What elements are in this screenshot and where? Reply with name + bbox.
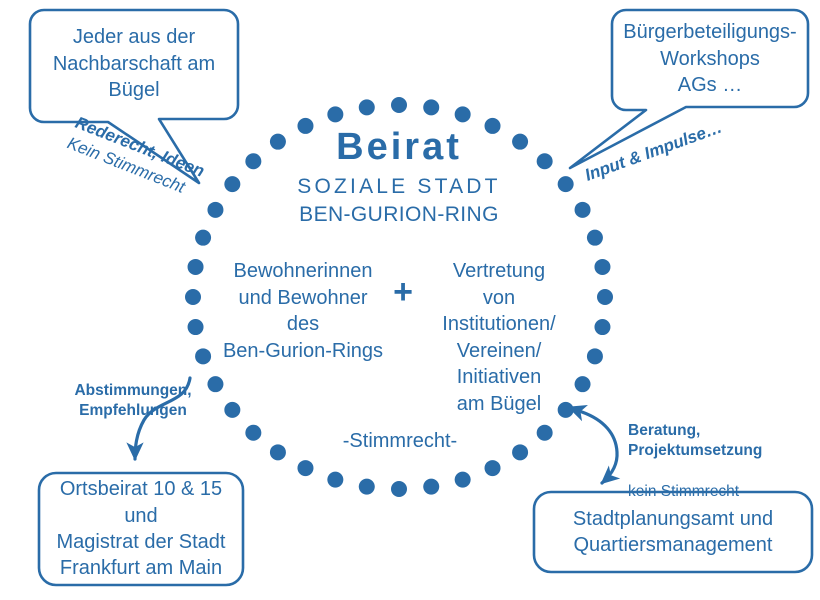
caption-abstimmungen-bold: Abstimmungen, Empfehlungen — [48, 381, 218, 422]
ring-dot — [270, 444, 286, 460]
ring-dot — [327, 106, 343, 122]
caption-rederecht: Rederecht, Ideen Kein Stimmrecht — [64, 112, 207, 203]
ring-dot — [359, 99, 375, 115]
ring-dot — [587, 348, 603, 364]
ring-dot — [188, 259, 204, 275]
ring-dot — [207, 202, 223, 218]
ring-dot — [188, 319, 204, 335]
caption-beratung-normal: kein Stimmrecht — [628, 482, 818, 503]
ring-dot — [195, 230, 211, 246]
ring-dot — [245, 425, 261, 441]
caption-beratung-bold: Beratung, Projektumsetzung — [628, 421, 818, 462]
ring-dot — [423, 479, 439, 495]
ring-column-left: Bewohnerinnen und Bewohner des Ben-Gurio… — [210, 258, 396, 364]
ring-dot — [594, 319, 610, 335]
ring-subtitle: SOZIALE STADT — [249, 171, 549, 203]
ring-dot — [597, 289, 613, 305]
ring-dot — [327, 472, 343, 488]
caption-input: Input & Impulse… — [582, 117, 725, 187]
diagram-canvas: Jeder aus der Nachbarschaft am Bügel Bür… — [0, 0, 820, 600]
bubble-nachbarschaft-label: Jeder aus der Nachbarschaft am Bügel — [36, 14, 232, 114]
ring-dot — [359, 479, 375, 495]
ring-dot — [512, 444, 528, 460]
ring-dot — [455, 106, 471, 122]
ring-dot — [537, 425, 553, 441]
ring-dot — [587, 230, 603, 246]
bubble-buergerbeteiligung-label: Bürgerbeteiligungs- Workshops AGs … — [616, 16, 804, 102]
ring-dot — [455, 472, 471, 488]
ring-dot — [185, 289, 201, 305]
ring-title: Beirat — [249, 128, 549, 168]
ring-dot — [558, 176, 574, 192]
caption-abstimmungen: Abstimmungen, Empfehlungen — [48, 360, 218, 442]
ring-dot — [391, 481, 407, 497]
ring-footnote-stimmrecht: -Stimmrecht- — [300, 430, 500, 453]
ring-dot — [391, 97, 407, 113]
ring-dot — [575, 202, 591, 218]
ring-dot — [485, 460, 501, 476]
box-ortsbeirat-label: Ortsbeirat 10 & 15 und Magistrat der Sta… — [41, 473, 241, 585]
arrow-beratung — [582, 412, 617, 483]
ring-subtitle-secondary: BEN-GURION-RING — [249, 202, 549, 228]
ring-dot — [423, 99, 439, 115]
ring-dot — [224, 402, 240, 418]
ring-title-block: Beirat SOZIALE STADT BEN-GURION-RING — [249, 128, 549, 229]
ring-column-right: Vertretung von Institutionen/ Vereinen/ … — [415, 258, 583, 418]
caption-beratung: Beratung, Projektumsetzung kein Stimmrec… — [628, 400, 818, 524]
ring-dot — [224, 176, 240, 192]
ring-dot — [297, 460, 313, 476]
caption-input-bold: Input & Impulse… — [582, 117, 725, 187]
ring-dot — [594, 259, 610, 275]
